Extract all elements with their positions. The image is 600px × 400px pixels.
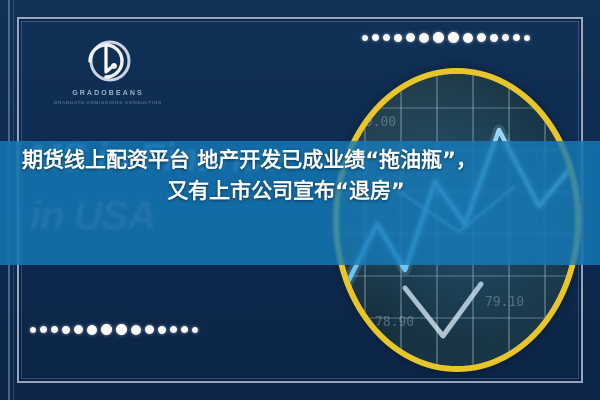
decorative-dot	[30, 327, 36, 333]
decorative-dot	[192, 327, 198, 333]
decorative-dot	[477, 33, 486, 42]
decorative-dot	[170, 326, 177, 333]
decorative-dot	[74, 325, 83, 334]
headline-text: 期货线上配资平台 地产开发已成业绩“拖油瓶”， 又有上市公司宣布“退房”	[0, 145, 600, 207]
decorative-dot	[116, 324, 127, 335]
decorative-dot-row-top	[362, 32, 530, 43]
decorative-dot	[362, 35, 368, 41]
decorative-dot	[87, 325, 97, 335]
decorative-dot	[131, 325, 141, 335]
decorative-dot	[433, 32, 444, 43]
poster-screenshot: GRADOBEANS GRADUATE ADMISSIONS CONSULTIN…	[0, 0, 600, 400]
decorative-dot	[383, 34, 390, 41]
decorative-dot	[51, 326, 58, 333]
headline-line-2: 又有上市公司宣布“退房”	[8, 176, 592, 207]
decorative-dot	[181, 326, 188, 333]
decorative-dot	[40, 326, 47, 333]
decorative-dot	[145, 325, 154, 334]
decorative-dot	[158, 326, 166, 334]
gd-monogram-icon	[80, 38, 136, 84]
logo-institution-name: GRADOBEANS	[48, 90, 168, 97]
institution-logo: GRADOBEANS GRADUATE ADMISSIONS CONSULTIN…	[48, 38, 168, 105]
decorative-dot	[448, 32, 459, 43]
decorative-dot	[490, 34, 498, 42]
decorative-dot	[502, 34, 509, 41]
decorative-dot	[372, 34, 379, 41]
decorative-dot	[62, 326, 70, 334]
decorative-dot	[419, 33, 429, 43]
decorative-dot	[101, 324, 112, 335]
decorative-dot	[394, 34, 402, 42]
decorative-dot	[463, 33, 473, 43]
decorative-dot-row-bottom	[30, 324, 198, 335]
decorative-dot	[513, 34, 520, 41]
headline-line-1: 期货线上配资平台 地产开发已成业绩“拖油瓶”，	[8, 145, 592, 176]
decorative-dot	[524, 35, 530, 41]
logo-institution-subtitle: GRADUATE ADMISSIONS CONSULTING	[48, 100, 168, 105]
decorative-dot	[406, 33, 415, 42]
